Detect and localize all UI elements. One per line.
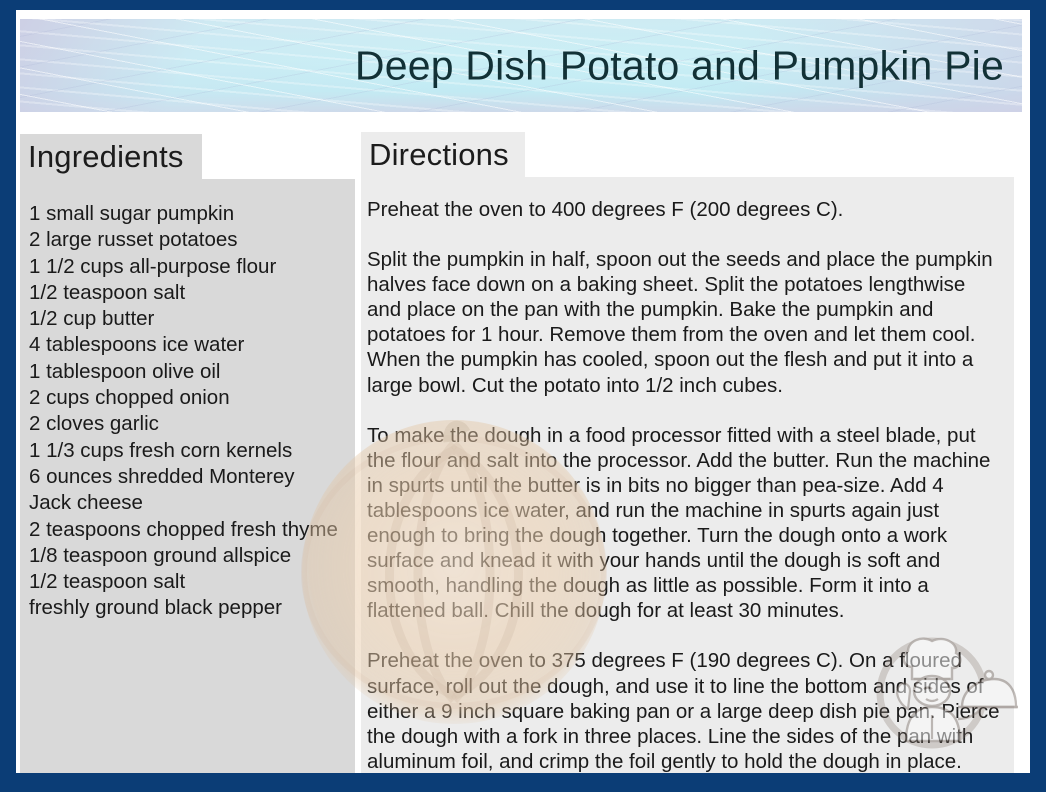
list-item: 6 ounces shredded Monterey [29, 464, 343, 490]
list-item: 4 tablespoons ice water [29, 332, 343, 358]
list-item: Jack cheese [29, 490, 343, 516]
list-item: 1 1/2 cups all-purpose flour [29, 254, 343, 280]
recipe-card: Deep Dish Potato and Pumpkin Pie Ingredi… [0, 0, 1046, 792]
directions-panel: Preheat the oven to 400 degrees F (200 d… [361, 177, 1014, 773]
list-item: 1 small sugar pumpkin [29, 201, 343, 227]
direction-paragraph: Preheat the oven to 400 degrees F (200 d… [367, 197, 1004, 222]
title-banner: Deep Dish Potato and Pumpkin Pie [20, 19, 1022, 112]
list-item: 1 1/3 cups fresh corn kernels [29, 438, 343, 464]
directions-text: Preheat the oven to 400 degrees F (200 d… [367, 197, 1004, 773]
list-item: 1/2 teaspoon salt [29, 280, 343, 306]
list-item: 1/2 cup butter [29, 306, 343, 332]
directions-section-header: Directions [361, 132, 525, 177]
list-item: 2 large russet potatoes [29, 227, 343, 253]
direction-paragraph: To make the dough in a food processor fi… [367, 423, 1004, 624]
ingredients-list: 1 small sugar pumpkin 2 large russet pot… [29, 201, 343, 622]
list-item: 1/2 teaspoon salt [29, 569, 343, 595]
ingredients-section-header: Ingredients [20, 134, 202, 179]
card-inner: Deep Dish Potato and Pumpkin Pie Ingredi… [16, 10, 1030, 773]
page-title: Deep Dish Potato and Pumpkin Pie [355, 45, 1004, 86]
direction-paragraph: Split the pumpkin in half, spoon out the… [367, 247, 1004, 398]
list-item: 1/8 teaspoon ground allspice [29, 543, 343, 569]
list-item: 2 teaspoons chopped fresh thyme [29, 517, 343, 543]
list-item: 1 tablespoon olive oil [29, 359, 343, 385]
ingredients-panel: 1 small sugar pumpkin 2 large russet pot… [20, 179, 355, 773]
list-item: 2 cups chopped onion [29, 385, 343, 411]
ingredients-header-label: Ingredients [28, 141, 184, 172]
directions-header-label: Directions [369, 139, 509, 170]
list-item: freshly ground black pepper [29, 595, 343, 621]
list-item: 2 cloves garlic [29, 411, 343, 437]
direction-paragraph: Preheat the oven to 375 degrees F (190 d… [367, 648, 1004, 773]
